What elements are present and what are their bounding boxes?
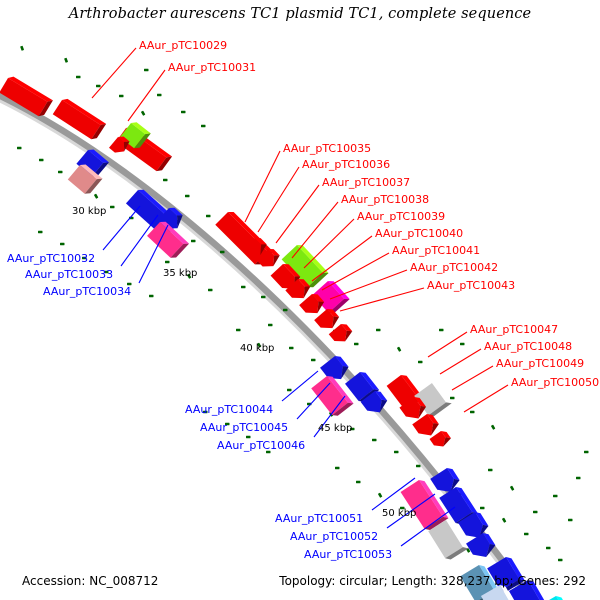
gene-label-aaur_ptc10050[interactable]: AAur_pTC10050 [511, 377, 599, 388]
gene-label-aaur_ptc10042[interactable]: AAur_pTC10042 [410, 262, 498, 273]
ruler-tick-label: 30 kbp [72, 206, 106, 217]
rna-tick [241, 286, 246, 289]
rna-tick [58, 171, 63, 174]
genome-map-viewer[interactable]: Arthrobacter aurescens TC1 plasmid TC1, … [0, 0, 600, 600]
rna-tick [39, 159, 44, 162]
rna-tick [335, 467, 340, 470]
rna-tick [558, 559, 563, 562]
label-leader-line [440, 349, 481, 374]
gene-label-aaur_ptc10031[interactable]: AAur_pTC10031 [168, 62, 256, 73]
rna-tick [60, 243, 65, 246]
rna-tick [283, 309, 288, 312]
rna-tick [524, 533, 529, 536]
rna-tick [261, 296, 266, 299]
rna-tick [20, 46, 24, 51]
rna-tick [206, 215, 211, 218]
gene-label-aaur_ptc10048[interactable]: AAur_pTC10048 [484, 341, 572, 352]
label-leader-line [322, 253, 389, 290]
rna-tick [378, 493, 383, 498]
gene-label-aaur_ptc10044[interactable]: AAur_pTC10044 [185, 404, 273, 415]
rna-tick [185, 195, 190, 198]
rna-tick [268, 324, 273, 327]
rna-tick [470, 411, 475, 414]
rna-tick [141, 111, 146, 116]
rna-tick [64, 58, 68, 63]
gene-label-aaur_ptc10047[interactable]: AAur_pTC10047 [470, 324, 558, 335]
gene-label-aaur_ptc10049[interactable]: AAur_pTC10049 [496, 358, 584, 369]
rna-tick [246, 436, 251, 439]
label-leader-line [464, 385, 508, 412]
rna-tick [191, 240, 196, 243]
rna-tick [236, 329, 241, 332]
gene-label-aaur_ptc10038[interactable]: AAur_pTC10038 [341, 194, 429, 205]
ruler-tick-label: 45 kbp [318, 423, 352, 434]
gene-label-aaur_ptc10029[interactable]: AAur_pTC10029 [139, 40, 227, 51]
rna-tick [450, 397, 455, 400]
rna-tick [397, 347, 402, 352]
label-leader-line [452, 366, 493, 390]
gene-label-aaur_ptc10033[interactable]: AAur_pTC10033 [25, 269, 113, 280]
rna-tick [287, 389, 292, 392]
rna-tick [311, 359, 316, 362]
label-leader-line [304, 219, 354, 268]
rna-tick [110, 206, 115, 209]
label-leader-line [245, 151, 280, 222]
rna-tick [201, 125, 206, 128]
rna-tick [181, 111, 186, 114]
rna-tick [394, 451, 399, 454]
rna-tick [418, 361, 423, 364]
gene-label-aaur_ptc10046[interactable]: AAur_pTC10046 [217, 440, 305, 451]
rna-tick [488, 469, 493, 472]
gene-label-aaur_ptc10041[interactable]: AAur_pTC10041 [392, 245, 480, 256]
rna-tick [94, 194, 99, 199]
label-leader-line [103, 206, 140, 250]
rna-tick [165, 261, 170, 264]
rna-tick [546, 547, 551, 550]
rna-tick [354, 343, 359, 346]
gene-label-aaur_ptc10039[interactable]: AAur_pTC10039 [357, 211, 445, 222]
topology-text: Topology: circular; Length: 328,237 bp; … [279, 574, 586, 588]
gene-label-aaur_ptc10051[interactable]: AAur_pTC10051 [275, 513, 363, 524]
rna-tick [17, 147, 22, 150]
rna-tick [460, 343, 465, 346]
gene-label-aaur_ptc10043[interactable]: AAur_pTC10043 [427, 280, 515, 291]
label-leader-line [92, 48, 136, 98]
label-leader-line [292, 202, 338, 258]
status-bar: Accession: NC_008712 Topology: circular;… [0, 566, 600, 600]
rna-tick [576, 477, 581, 480]
rna-tick [376, 329, 381, 332]
ruler-tick-label: 35 kbp [163, 268, 197, 279]
rna-tick [220, 251, 225, 254]
rna-tick [502, 518, 507, 523]
rna-tick [439, 329, 444, 332]
label-leader-line [258, 167, 299, 232]
gene-label-aaur_ptc10035[interactable]: AAur_pTC10035 [283, 143, 371, 154]
rna-tick [510, 486, 515, 491]
rna-tick [157, 94, 162, 97]
rna-tick [208, 289, 213, 292]
gene-label-aaur_ptc10052[interactable]: AAur_pTC10052 [290, 531, 378, 542]
label-leader-line [282, 371, 318, 401]
label-leader-line [330, 270, 407, 299]
rna-tick [584, 451, 589, 454]
rna-tick [289, 347, 294, 350]
accession-text: Accession: NC_008712 [22, 574, 158, 588]
rna-tick [163, 179, 168, 182]
rna-tick [38, 231, 43, 234]
rna-tick [119, 95, 124, 98]
ruler-tick-label: 50 kbp [382, 508, 416, 519]
gene-label-aaur_ptc10053[interactable]: AAur_pTC10053 [304, 549, 392, 560]
rna-tick [96, 85, 101, 88]
rna-tick [533, 511, 538, 514]
label-leader-line [312, 236, 372, 281]
rna-tick [491, 425, 496, 430]
rna-tick [480, 507, 485, 510]
rna-tick [149, 295, 154, 298]
rna-tick [76, 76, 81, 79]
rna-tick [416, 465, 421, 468]
rna-tick [568, 519, 573, 522]
gene-label-aaur_ptc10045[interactable]: AAur_pTC10045 [200, 422, 288, 433]
label-leader-line [340, 288, 424, 311]
rna-tick [144, 69, 149, 72]
genome-map-canvas[interactable] [0, 0, 600, 600]
rna-tick [553, 495, 558, 498]
gene-label-aaur_ptc10037[interactable]: AAur_pTC10037 [322, 177, 410, 188]
rna-tick [372, 439, 377, 442]
gene-label-aaur_ptc10036[interactable]: AAur_pTC10036 [302, 159, 390, 170]
gene-label-aaur_ptc10040[interactable]: AAur_pTC10040 [375, 228, 463, 239]
gene-label-aaur_ptc10032[interactable]: AAur_pTC10032 [7, 253, 95, 264]
ruler-tick-label: 40 kbp [240, 343, 274, 354]
rna-tick [356, 481, 361, 484]
gene-label-aaur_ptc10034[interactable]: AAur_pTC10034 [43, 286, 131, 297]
